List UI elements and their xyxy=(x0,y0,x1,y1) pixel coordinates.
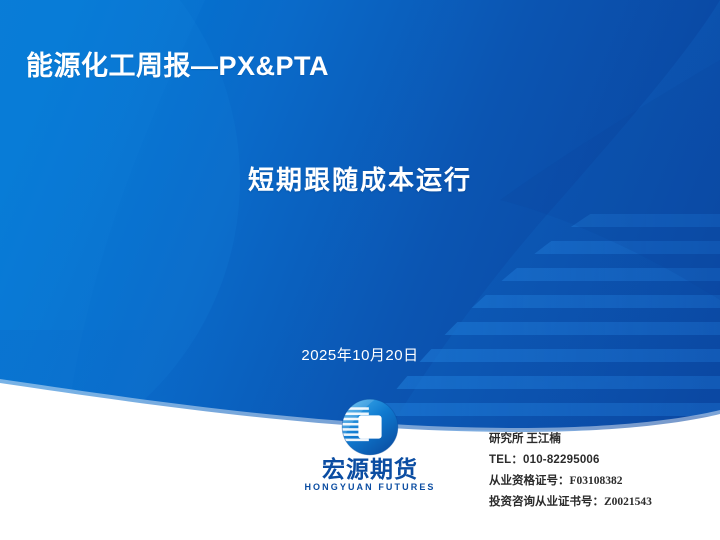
page-subtitle: 短期跟随成本运行 xyxy=(0,160,720,197)
contact-qualification-number: 从业资格证号：F03108382 xyxy=(489,471,652,492)
page-title: 能源化工周报—PX&PTA xyxy=(26,44,329,83)
hongyuan-futures-emblem-icon xyxy=(341,398,399,456)
company-logo: 宏源期货 HONGYUAN FUTURES xyxy=(302,398,438,490)
page-subtitle-text: 短期跟随成本运行 xyxy=(248,160,472,197)
logo-name-en: HONGYUAN FUTURES xyxy=(302,482,438,494)
slide-root: 能源化工周报—PX&PTA 短期跟随成本运行 2025年10月20日 xyxy=(0,0,720,540)
contact-tel: TEL：010-82295006 xyxy=(489,450,652,471)
publication-date: 2025年10月20日 xyxy=(0,344,720,365)
contact-block: 研究所 王江楠 TEL：010-82295006 从业资格证号：F0310838… xyxy=(489,429,652,513)
publication-date-text: 2025年10月20日 xyxy=(301,344,418,365)
contact-consulting-number: 投资咨询从业证书号：Z0021543 xyxy=(489,492,652,513)
logo-name-cn: 宏源期货 xyxy=(302,457,438,481)
contact-author: 研究所 王江楠 xyxy=(489,429,652,450)
